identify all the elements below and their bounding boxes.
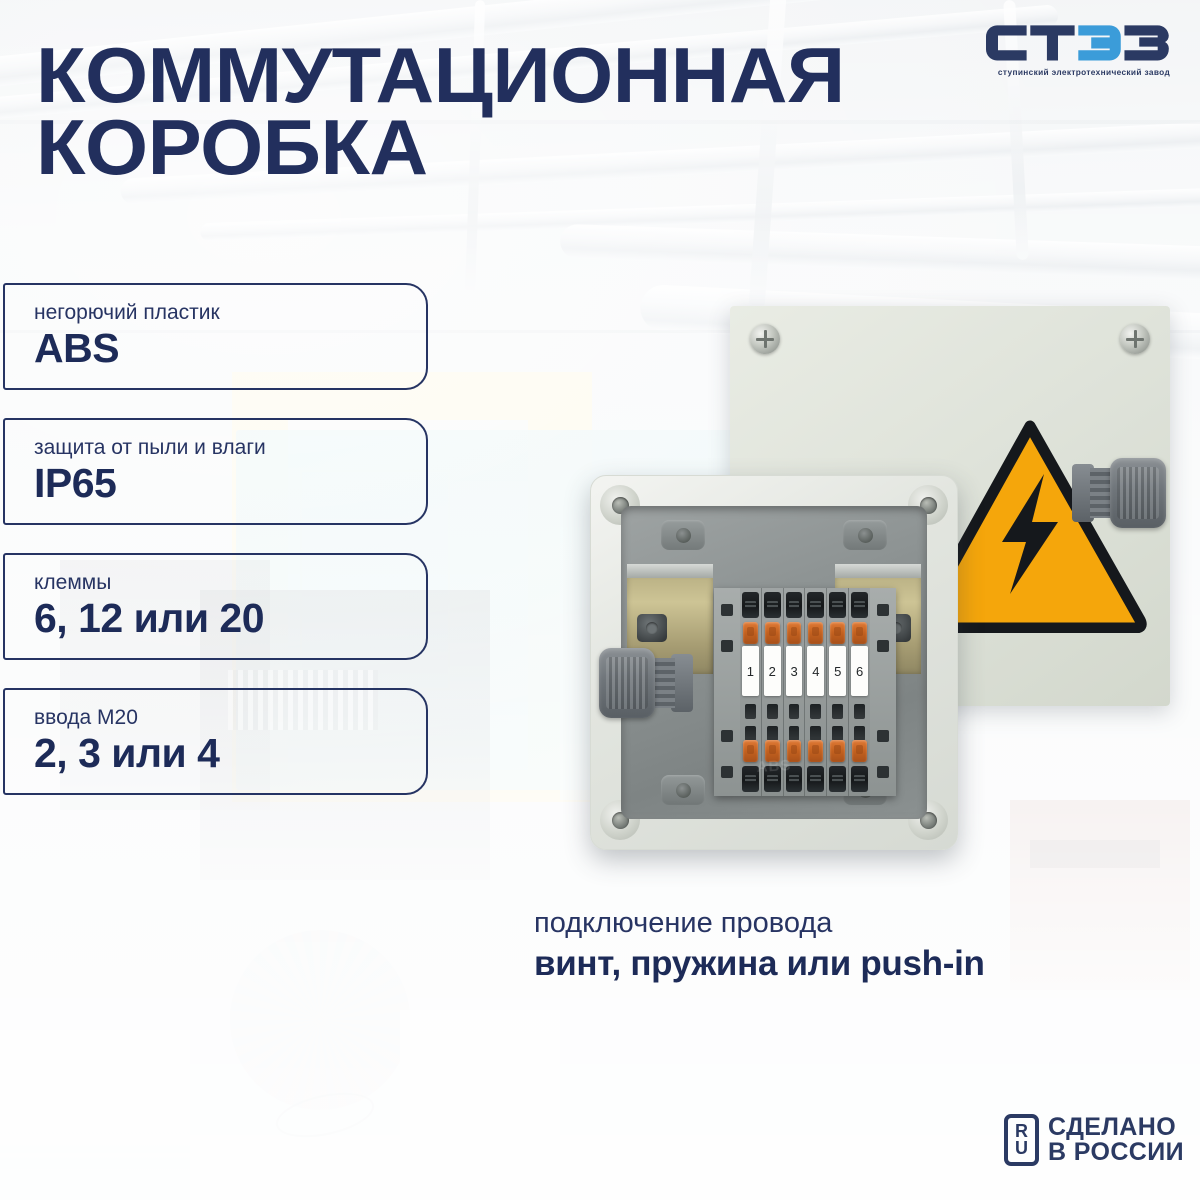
cable-gland-icon: [599, 648, 691, 718]
feature-caption: клеммы: [34, 571, 426, 594]
terminal-pole: 4: [805, 588, 827, 796]
made-in-line-1: СДЕЛАНО: [1048, 1115, 1184, 1141]
terminal-number-label: 1: [742, 646, 759, 696]
feature-caption: ввода M20: [34, 706, 426, 729]
terminal-end-bracket: [870, 588, 896, 796]
ru-box-letter-bottom: U: [1015, 1140, 1028, 1157]
terminal-number-label: 5: [829, 646, 846, 696]
tagline-value: винт, пружина или push-in: [534, 941, 1194, 987]
terminal-number-label: 3: [786, 646, 803, 696]
tagline-caption: подключение провода: [534, 905, 1194, 941]
logo-subtitle: ступинский электротехнический завод: [986, 67, 1182, 77]
made-in-russia-text: СДЕЛАНО В РОССИИ: [1048, 1115, 1184, 1166]
connection-tagline: подключение провода винт, пружина или pu…: [534, 905, 1194, 987]
terminal-pole: 6: [849, 588, 870, 796]
page-title-line-2: КОРОБКА: [36, 112, 993, 184]
made-in-russia-badge: R U СДЕЛАНО В РОССИИ: [1004, 1114, 1184, 1166]
company-logo[interactable]: ступинский электротехнический завод: [986, 18, 1182, 77]
feature-card-ingress-protection: защита от пыли и влаги IP65: [3, 418, 428, 525]
feature-caption: защита от пыли и влаги: [34, 436, 426, 459]
terminal-block: 1 2 3: [714, 588, 896, 796]
page-title: КОММУТАЦИОННАЯ КОРОБКА: [36, 40, 993, 184]
open-enclosure: 1 2 3: [590, 475, 958, 850]
terminal-pole: 5: [827, 588, 849, 796]
stez-logo-mark: [986, 18, 1171, 66]
feature-value: IP65: [34, 461, 426, 507]
terminal-number-label: 2: [764, 646, 781, 696]
cable-gland-icon: [1074, 458, 1166, 528]
feature-card-terminals: клеммы 6, 12 или 20: [3, 553, 428, 660]
product-photo: 1 2 3: [440, 280, 1180, 860]
terminal-end-bracket: [714, 588, 740, 796]
screw-icon: [750, 324, 780, 354]
mount-post: [661, 520, 705, 550]
screw-icon: [1120, 324, 1150, 354]
made-in-line-2: В РОССИИ: [1048, 1140, 1184, 1166]
feature-card-material: негорючий пластик ABS: [3, 283, 428, 390]
feature-value: ABS: [34, 326, 426, 372]
feature-card-cable-entries: ввода M20 2, 3 или 4: [3, 688, 428, 795]
abs-emboss-text: ABS: [756, 757, 792, 776]
terminal-number-label: 6: [851, 646, 868, 696]
feature-value: 2, 3 или 4: [34, 731, 426, 777]
feature-caption: негорючий пластик: [34, 301, 426, 324]
mount-post: [843, 520, 887, 550]
ru-box-icon: R U: [1004, 1114, 1039, 1166]
terminal-number-label: 4: [807, 646, 824, 696]
feature-value: 6, 12 или 20: [34, 596, 426, 642]
mount-post: [661, 775, 705, 805]
